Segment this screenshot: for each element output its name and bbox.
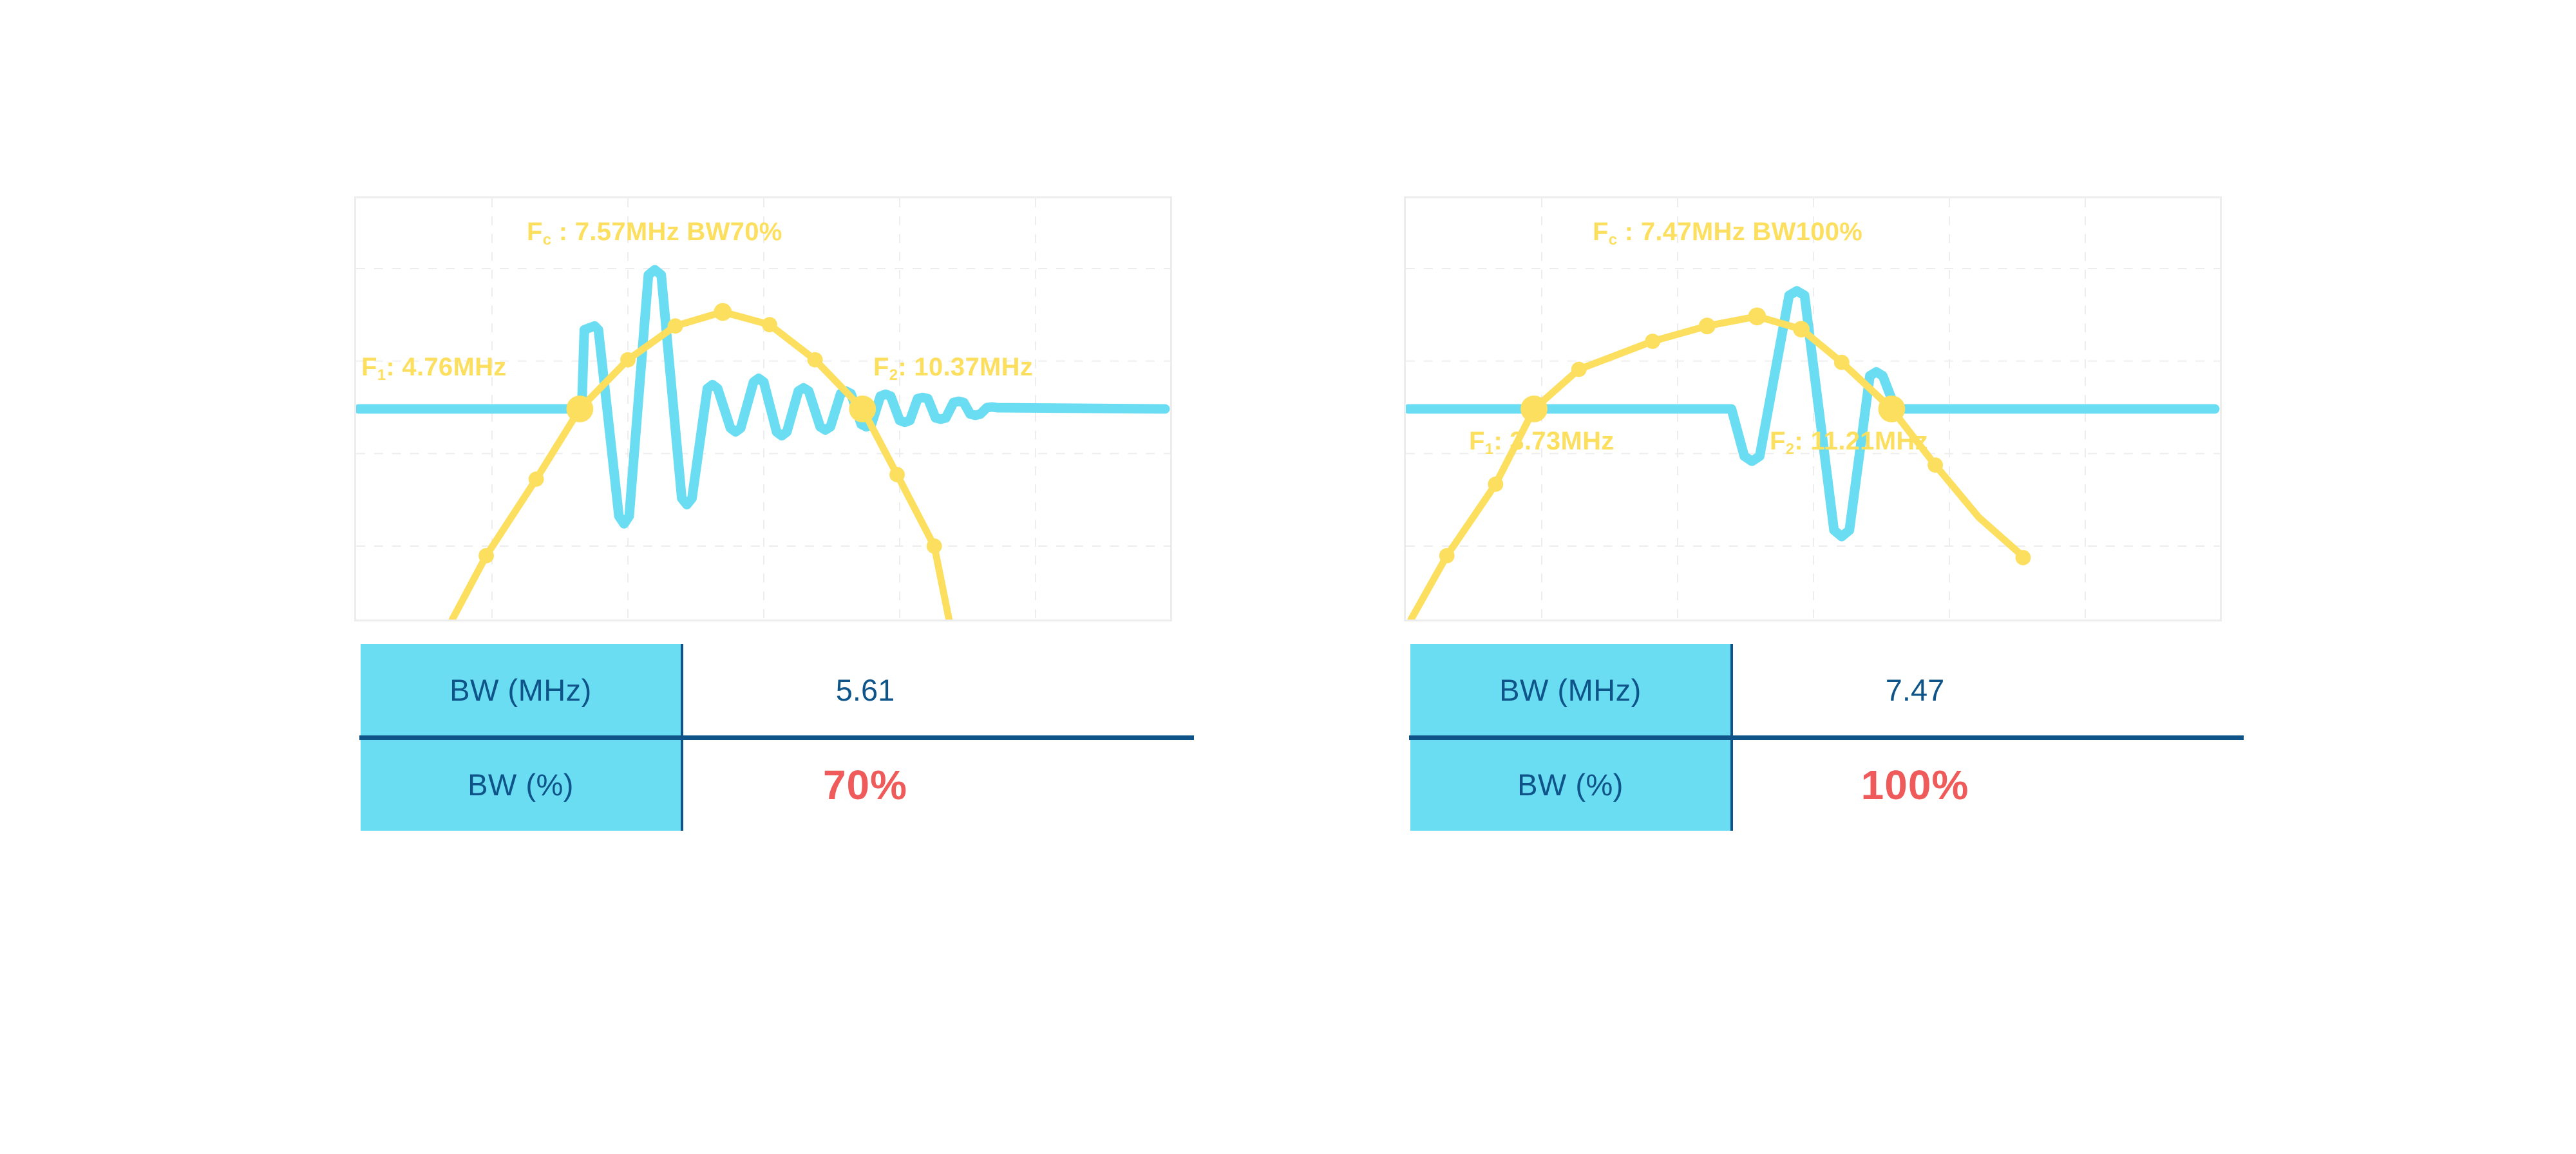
annotation-f2-text-bw100: : 11.21MHz <box>1794 427 1928 455</box>
annotation-center-text-bw100: : 7.47MHz BW100% <box>1617 218 1862 246</box>
table-row: BW (%) 70% <box>361 739 1198 831</box>
annotation-f1-prefix-bw100: F <box>1469 427 1485 455</box>
annotation-f2-sub-bw70: 2 <box>889 366 898 384</box>
annotation-f2-bw70: F2: 10.37MHz <box>873 353 1033 382</box>
chart-bw100-svg <box>1406 198 2220 620</box>
annotation-f1-sub-bw70: 1 <box>377 366 386 384</box>
annotation-f1-text-bw70: : 4.76MHz <box>386 353 506 381</box>
table-row: BW (MHz) 7.47 <box>1410 644 2248 736</box>
annotation-f2-bw100: F2: 11.21MHz <box>1770 427 1928 456</box>
annotation-f2-prefix-bw70: F <box>873 353 889 381</box>
annotation-f1-prefix-bw70: F <box>361 353 377 381</box>
bw-mhz-label-cell-bw70: BW (MHz) <box>361 644 681 736</box>
bw-pct-label-cell-bw100: BW (%) <box>1410 739 1730 831</box>
annotation-center-sub-bw70: c <box>543 231 552 249</box>
annotation-center-bw70: Fc : 7.57MHz BW70% <box>527 218 782 247</box>
bw-pct-value-cell-bw70: 70% <box>681 739 1198 831</box>
annotation-f1-bw70: F1: 4.76MHz <box>361 353 507 382</box>
annotation-center-text-bw70: : 7.57MHz BW70% <box>551 218 782 246</box>
chart-bw100: Fc : 7.47MHz BW100% F1: 3.73MHz F2: 11.2… <box>1404 196 2222 621</box>
annotation-f2-text-bw70: : 10.37MHz <box>898 353 1033 381</box>
annotation-center-bw100: Fc : 7.47MHz BW100% <box>1593 218 1862 247</box>
chart-bw70: Fc : 7.57MHz BW70% F1: 4.76MHz F2: 10.37… <box>354 196 1172 621</box>
bw-table-bw70: BW (MHz) 5.61 BW (%) 70% <box>361 644 1198 837</box>
annotation-f2-prefix-bw100: F <box>1770 427 1786 455</box>
annotation-center-prefix-bw100: F <box>1593 218 1609 246</box>
table-row: BW (%) 100% <box>1410 739 2248 831</box>
annotation-f1-sub-bw100: 1 <box>1485 440 1494 458</box>
annotation-f1-text-bw100: : 3.73MHz <box>1493 427 1614 455</box>
bw-mhz-value-cell-bw100: 7.47 <box>1730 644 2248 736</box>
annotation-f1-bw100: F1: 3.73MHz <box>1469 427 1615 456</box>
annotation-center-sub-bw100: c <box>1609 231 1618 249</box>
panel-bw100: Fc : 7.47MHz BW100% F1: 3.73MHz F2: 11.2… <box>1397 0 2260 1154</box>
chart-bw70-svg <box>356 198 1170 620</box>
annotation-center-prefix-bw70: F <box>527 218 543 246</box>
table-row: BW (MHz) 5.61 <box>361 644 1198 736</box>
table-row-divider-bw70 <box>359 735 1194 740</box>
bw-pct-label-cell-bw70: BW (%) <box>361 739 681 831</box>
bw-table-bw100: BW (MHz) 7.47 BW (%) 100% <box>1410 644 2248 837</box>
pulse-waveform-bw70 <box>359 270 1165 524</box>
screenshot-canvas: Fc : 7.57MHz BW70% F1: 4.76MHz F2: 10.37… <box>0 0 2576 1154</box>
table-row-divider-bw100 <box>1409 735 2244 740</box>
bw-mhz-value-cell-bw70: 5.61 <box>681 644 1198 736</box>
annotation-f2-sub-bw100: 2 <box>1786 440 1795 458</box>
bw-pct-value-cell-bw100: 100% <box>1730 739 2248 831</box>
panel-bw70: Fc : 7.57MHz BW70% F1: 4.76MHz F2: 10.37… <box>348 0 1211 1154</box>
bw-mhz-label-cell-bw100: BW (MHz) <box>1410 644 1730 736</box>
